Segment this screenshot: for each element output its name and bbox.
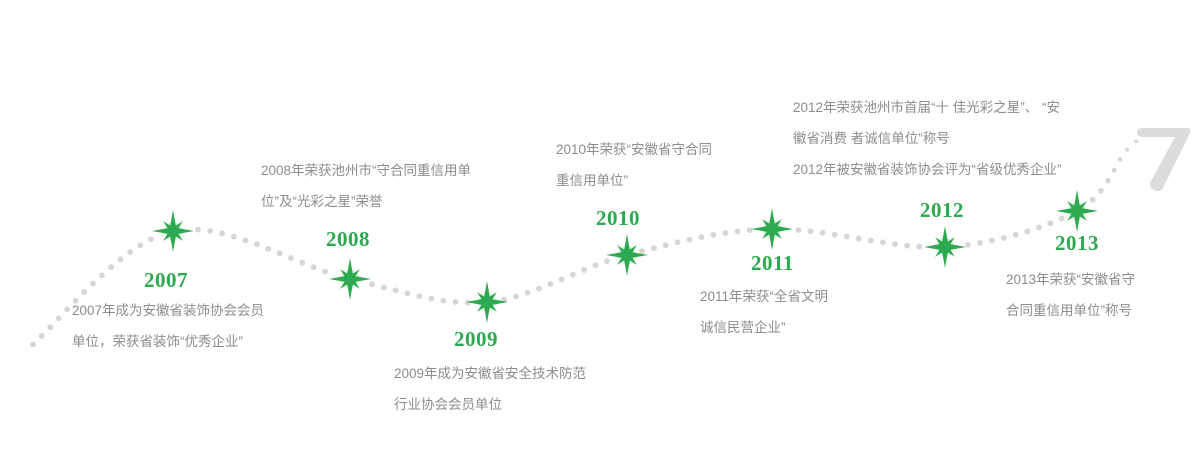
path-dot (699, 234, 705, 240)
path-dot (428, 296, 434, 302)
milestone-description-2010: 2010年荣获“安徽省守合同重信用单位” (556, 134, 712, 196)
description-line: 诚信民营企业” (700, 312, 828, 343)
milestone-marker-2007[interactable] (150, 208, 196, 254)
path-dot (977, 240, 983, 246)
description-line: 2012年荣获池州市首届“十 佳光彩之星”、 “安 (793, 92, 1062, 123)
path-dot (39, 333, 45, 339)
path-dot (547, 281, 553, 287)
year-label-2010: 2010 (596, 206, 640, 231)
path-dot (299, 260, 305, 266)
description-line: 重信用单位” (556, 165, 712, 196)
path-dot (1001, 235, 1007, 241)
path-dot (820, 230, 826, 236)
milestone-description-2009: 2009年成为安徽省安全技术防范行业协会会员单位 (394, 358, 586, 420)
path-dot (137, 242, 143, 248)
path-dot (440, 298, 446, 304)
path-dot (405, 290, 411, 296)
path-dot (243, 237, 249, 243)
path-dot (570, 272, 576, 278)
description-line: 2009年成为安徽省安全技术防范 (394, 358, 586, 389)
path-dot (1047, 220, 1053, 226)
milestone-marker-2009[interactable] (464, 279, 510, 325)
path-dot (880, 240, 886, 246)
path-dot (219, 231, 225, 237)
milestone-marker-2012[interactable] (922, 224, 968, 270)
milestone-marker-2011[interactable] (749, 206, 795, 252)
path-dot (56, 315, 62, 321)
description-line: 2011年荣获“全省文明 (700, 281, 828, 312)
path-dot (207, 228, 213, 234)
path-dot (1013, 232, 1019, 238)
path-dot (651, 245, 657, 251)
milestone-description-2008: 2008年荣获池州市“守合同重信用单位”及“光彩之星”荣誉 (261, 155, 471, 217)
path-dot (675, 239, 681, 245)
path-dot (559, 277, 565, 283)
description-line: 单位，荣获省装饰“优秀企业” (72, 326, 264, 357)
path-dot (393, 287, 399, 293)
description-line: 位”及“光彩之星”荣誉 (261, 186, 471, 217)
path-dot (47, 324, 53, 330)
path-dot (856, 236, 862, 242)
timeline-infographic: 20072007年成为安徽省装饰协会会员单位，荣获省装饰“优秀企业”200820… (0, 0, 1200, 465)
path-dot (904, 243, 910, 249)
description-line: 2012年被安徽省装饰协会评为“省级优秀企业” (793, 154, 1062, 185)
path-dot (64, 307, 70, 313)
path-dot (536, 286, 542, 292)
path-dot (1125, 148, 1129, 152)
path-dot (30, 341, 36, 347)
path-dot (1112, 168, 1117, 173)
year-label-2012: 2012 (920, 198, 964, 223)
year-label-2011: 2011 (751, 251, 794, 276)
path-dot (663, 242, 669, 248)
path-dot (1105, 178, 1110, 183)
path-dot (513, 294, 519, 300)
description-line: 2008年荣获池州市“守合同重信用单 (261, 155, 471, 186)
path-dot (723, 230, 729, 236)
path-dot (735, 229, 741, 235)
description-line: 行业协会会员单位 (394, 389, 586, 420)
milestone-marker-2010[interactable] (604, 232, 650, 278)
description-line: 2013年荣获“安徽省守 (1006, 264, 1135, 295)
path-dot (127, 249, 133, 255)
milestone-marker-2008[interactable] (327, 256, 373, 302)
path-dot (108, 264, 114, 270)
path-dot (593, 263, 599, 269)
arrow-seven-decoration-icon (1137, 122, 1195, 194)
path-dot (796, 227, 802, 233)
path-dot (844, 234, 850, 240)
path-dot (892, 241, 898, 247)
path-dot (989, 238, 995, 244)
description-line: 合同重信用单位”称号 (1006, 295, 1135, 326)
milestone-description-2007: 2007年成为安徽省装饰协会会员单位，荣获省装饰“优秀企业” (72, 295, 264, 357)
path-dot (311, 264, 317, 270)
year-label-2013: 2013 (1055, 231, 1099, 256)
path-dot (453, 299, 459, 305)
path-dot (417, 293, 423, 299)
milestone-description-2011: 2011年荣获“全省文明诚信民营企业” (700, 281, 828, 343)
path-dot (265, 246, 271, 252)
path-dot (381, 284, 387, 290)
description-line: 2010年荣获“安徽省守合同 (556, 134, 712, 165)
year-label-2008: 2008 (326, 227, 370, 252)
path-dot (525, 290, 531, 296)
path-dot (832, 232, 838, 238)
path-dot (808, 228, 814, 234)
path-dot (195, 227, 201, 233)
path-dot (687, 237, 693, 243)
path-dot (231, 234, 237, 240)
year-label-2009: 2009 (454, 327, 498, 352)
path-dot (99, 272, 105, 278)
path-dot (90, 281, 96, 287)
path-dot (1118, 157, 1123, 162)
path-dot (254, 242, 260, 248)
path-dot (118, 257, 124, 263)
path-dot (710, 232, 716, 238)
milestone-description-2012: 2012年荣获池州市首届“十 佳光彩之星”、 “安徽省消费 者诚信单位”称号20… (793, 92, 1062, 185)
path-dot (277, 251, 283, 257)
milestone-description-2013: 2013年荣获“安徽省守合同重信用单位”称号 (1006, 264, 1135, 326)
path-dot (1024, 228, 1030, 234)
path-dot (581, 267, 587, 273)
path-dot (288, 255, 294, 261)
year-label-2007: 2007 (144, 268, 188, 293)
path-dot (868, 238, 874, 244)
path-dot (1036, 225, 1042, 231)
description-line: 徽省消费 者诚信单位”称号 (793, 123, 1062, 154)
description-line: 2007年成为安徽省装饰协会会员 (72, 295, 264, 326)
milestone-marker-2013[interactable] (1054, 188, 1100, 234)
